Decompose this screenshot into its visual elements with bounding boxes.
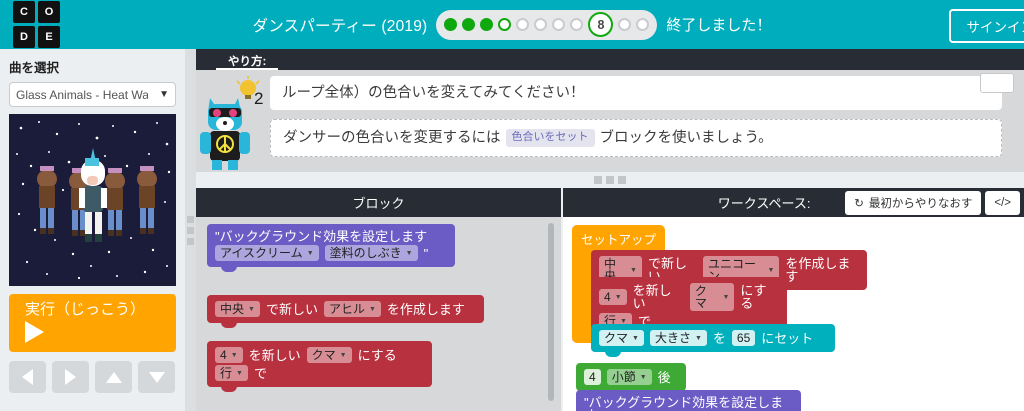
instructions-panel: やり方: 2 [196,49,1024,172]
handle-dot [187,227,194,234]
handle-dot [618,176,626,184]
block-notch [605,351,621,357]
chevron-down-icon: ▼ [695,335,702,342]
tab-instructions[interactable]: やり方: [216,49,278,70]
bubble-tail [270,85,271,101]
block-text: "バックグラウンド効果を設定します [584,396,793,411]
top-bar: C O D E ダンスパーティー (2019) 8 終了しました！ サインイン [0,0,1024,49]
vertical-resize-handle[interactable] [185,49,196,411]
block-text: "バックグラウンド効果を設定します [215,230,427,243]
field-value: 塗料のしぶき [330,247,402,259]
instructions-helper-button[interactable] [980,73,1014,93]
chevron-down-icon: ▼ [632,335,639,342]
up-arrow-icon [106,372,122,383]
field-value: アヒル [329,303,365,315]
field-value: クマ [695,285,719,309]
block-text: を新しい [249,349,301,362]
block-notch [221,386,237,392]
sidebar: 曲を選択 Glass Animals - Heat Wa ▼ [0,49,185,411]
workspace-panel-title: ワークスペース: [563,193,845,212]
field-value: 小節 [612,371,636,383]
instruction-text-2-pre: ダンサーの色合いを変更するには [283,129,501,147]
chevron-down-icon: ▼ [236,370,243,377]
code-icon: </> [994,197,1011,209]
chevron-down-icon: ▼ [307,250,314,257]
instruction-bubbles: ループ全体）の色合いを変えてみてください！ ダンサーの色合いを変更するには 色合… [270,74,1024,172]
blockly-workspace[interactable]: セットアップ 中央 ▼ で新しい ユニコーン ▼ を作成します 4 [563,217,1024,411]
field-value: 行 [220,367,232,379]
instruction-text-2-post: ブロックを使いましょう。 [600,129,773,147]
handle-dot [187,238,194,245]
progress-bubble[interactable] [516,18,529,31]
chevron-down-icon: ▼ [340,352,347,359]
run-button[interactable]: 実行（じっこう） [9,294,176,352]
block-text: を [713,332,726,345]
chevron-down-icon: ▼ [231,352,238,359]
dance-party-app: C O D E ダンスパーティー (2019) 8 終了しました！ サインイン [0,0,1024,411]
run-button-label: 実行（じっこう） [9,294,176,319]
workspace-buttons: ↻ 最初からやりなおす </> [845,191,1024,215]
progress-bubble[interactable] [552,18,565,31]
progress-bubble[interactable] [618,18,631,31]
down-arrow-icon [149,372,165,383]
blocks-palette[interactable]: "バックグラウンド効果を設定します アイスクリーム ▼ 塗料のしぶき ▼ " 中… [196,217,561,411]
down-arrow-button[interactable] [138,361,175,393]
block-notch [221,322,237,328]
palette-block-background-effect[interactable]: "バックグラウンド効果を設定します アイスクリーム ▼ 塗料のしぶき ▼ " [207,224,455,267]
progress-bubble[interactable] [534,18,547,31]
progress-bubble[interactable] [444,18,457,31]
song-select-value: Glass Animals - Heat Wa [16,88,148,102]
setup-label: セットアップ [572,225,665,253]
block-field-effect2[interactable]: 塗料のしぶき ▼ [325,245,418,261]
palette-scrollbar[interactable] [548,223,554,401]
field-value: アイスクリーム [220,247,303,259]
song-select-label: 曲を選択 [9,57,176,76]
right-arrow-button[interactable] [52,361,89,393]
block-field-dancer[interactable]: アヒル ▼ [324,301,381,317]
handle-dot [594,176,602,184]
field-value: クマ [604,332,628,344]
block-field-effect1[interactable]: アイスクリーム ▼ [215,245,319,261]
block-field-unit[interactable]: 小節 ▼ [607,369,652,385]
horizontal-resize-handle[interactable] [196,172,1024,188]
block-text: で新しい [266,303,318,316]
instructions-body: 2 [196,70,1024,172]
blocks-panel-title: ブロック [352,193,404,212]
palette-block-make-group[interactable]: 4 ▼ を新しい クマ ▼ にする 行 ▼ で [207,341,432,387]
restart-button[interactable]: ↻ 最初からやりなおす [845,191,981,215]
chevron-down-icon: ▼ [722,294,729,301]
playback-controls [9,361,176,393]
block-text: 後 [658,371,671,384]
bubble-tail [270,129,272,145]
block-text: を作成します [387,303,465,316]
undo-icon: ↻ [854,196,864,210]
show-code-button[interactable]: </> [985,191,1020,215]
progress-bubble-current[interactable]: 8 [588,12,613,37]
cat-mascot-icon: 2 [196,74,270,172]
chevron-down-icon: ▼ [615,294,622,301]
block-field-count[interactable]: 4 ▼ [599,289,627,305]
chevron-down-icon: ▼ [369,306,376,313]
instruction-bubble-secondary: ダンサーの色合いを変更するには 色合いをセット ブロックを使いましょう。 [270,119,1002,157]
instruction-text-1: ループ全体）の色合いを変えてみてください！ [282,85,584,101]
field-value: 4 [220,349,227,361]
blocks-panel-header: ブロック [196,188,561,217]
handle-dot [606,176,614,184]
dance-preview-svg [9,114,176,286]
workspace-block-after-measures[interactable]: 4 小節 ▼ 後 [576,363,686,391]
progress-bubbles[interactable]: 8 [436,10,657,40]
signin-button[interactable]: サインイン [949,9,1024,43]
block-field-dancer[interactable]: クマ ▼ [307,347,352,363]
chevron-down-icon: ▼ [159,89,169,100]
block-field-measures[interactable]: 4 [584,369,601,385]
chevron-down-icon: ▼ [767,267,774,274]
song-select[interactable]: Glass Animals - Heat Wa ▼ [9,82,176,107]
restart-button-label: 最初からやりなおす [869,195,973,211]
workspace-block-background-effect[interactable]: "バックグラウンド効果を設定します [576,390,801,411]
chevron-down-icon: ▼ [640,374,647,381]
chevron-down-icon: ▼ [406,250,413,257]
chevron-down-icon: ▼ [248,306,255,313]
progress-bubble[interactable] [498,18,511,31]
block-field-count[interactable]: 4 ▼ [215,347,243,363]
status-text: 終了しました！ [666,14,771,35]
block-field-position[interactable]: 中央 ▼ [215,301,260,317]
inline-block-reference: 色合いをセット [506,129,595,147]
block-field-value[interactable]: 65 [732,330,755,346]
dance-preview-stage[interactable] [9,114,176,286]
top-bar-center: ダンスパーティー (2019) 8 終了しました！ [0,0,1024,49]
progress-bubble[interactable] [570,18,583,31]
block-notch [221,266,237,272]
block-text: にする [358,349,397,362]
block-text: を新しい [633,284,684,310]
block-text: で [254,367,267,380]
field-value: 大きさ [655,332,691,344]
instructions-tabbar: やり方: [196,49,1024,70]
progress-bubble[interactable] [462,18,475,31]
block-text: にセット [761,332,813,345]
block-field-group[interactable]: クマ ▼ [599,330,644,346]
play-icon [25,321,44,343]
field-value: 中央 [220,303,244,315]
field-value: クマ [312,349,336,361]
chevron-down-icon: ▼ [630,267,637,274]
left-arrow-button[interactable] [9,361,46,393]
block-field-dancer[interactable]: クマ ▼ [690,283,734,311]
workspace-block-set-size[interactable]: クマ ▼ 大きさ ▼ を 65 にセット [591,324,835,352]
block-field-property[interactable]: 大きさ ▼ [650,330,707,346]
block-text: を作成します [785,257,859,283]
workspace-panel-header: ワークスペース: ↻ 最初からやりなおす </> [563,188,1024,217]
handle-dot [187,216,194,223]
svg-text:2: 2 [254,89,263,108]
cat-mascot-svg: 2 [196,74,270,170]
left-arrow-icon [22,369,33,385]
instruction-bubble-primary: ループ全体）の色合いを変えてみてください！ [270,76,1002,110]
block-text: にする [740,284,779,310]
block-text-quote: " [424,247,429,260]
field-value: 4 [604,291,611,303]
right-arrow-icon [65,369,76,385]
block-field-layout[interactable]: 行 ▼ [215,365,248,381]
palette-block-make-dancer[interactable]: 中央 ▼ で新しい アヒル ▼ を作成します [207,295,484,323]
level-title: ダンスパーティー (2019) [253,14,428,36]
progress-bubble[interactable] [480,18,493,31]
up-arrow-button[interactable] [95,361,132,393]
progress-bubble[interactable] [636,18,649,31]
